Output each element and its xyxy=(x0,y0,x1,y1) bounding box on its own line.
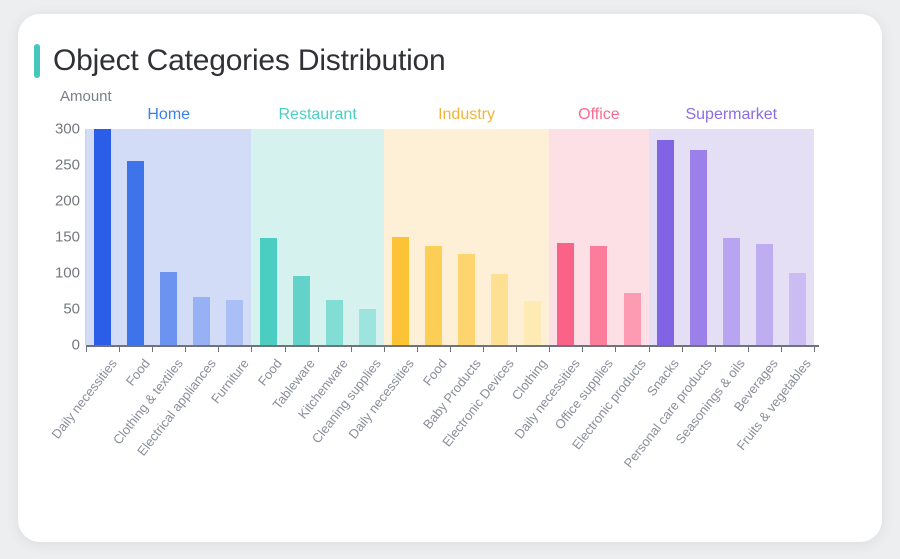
bar[interactable] xyxy=(326,300,343,345)
x-tick-mark xyxy=(483,345,484,352)
x-tick-mark xyxy=(615,345,616,352)
bar[interactable] xyxy=(557,243,574,345)
bar[interactable] xyxy=(127,161,144,345)
y-tick-label: 100 xyxy=(55,265,80,282)
x-tick-mark xyxy=(748,345,749,352)
bar[interactable] xyxy=(789,273,806,345)
x-tick-mark xyxy=(119,345,120,352)
bar[interactable] xyxy=(160,272,177,345)
bar[interactable] xyxy=(392,237,409,345)
bar[interactable] xyxy=(624,293,641,345)
bar[interactable] xyxy=(193,297,210,345)
group-label-supermarket: Supermarket xyxy=(685,106,777,124)
group-label-home: Home xyxy=(147,106,190,124)
x-tick-mark xyxy=(86,345,87,352)
x-tick-mark xyxy=(549,345,550,352)
bar[interactable] xyxy=(425,246,442,345)
plot-area: 050100150200250300 xyxy=(86,129,814,345)
bar[interactable] xyxy=(293,276,310,345)
x-tick-mark xyxy=(649,345,650,352)
x-tick-mark xyxy=(351,345,352,352)
x-tick-mark xyxy=(285,345,286,352)
y-tick-label: 200 xyxy=(55,193,80,210)
y-tick-label: 150 xyxy=(55,229,80,246)
x-tick-mark xyxy=(152,345,153,352)
bar[interactable] xyxy=(491,274,508,345)
bar[interactable] xyxy=(723,238,740,345)
x-tick-mark xyxy=(682,345,683,352)
group-label-industry: Industry xyxy=(438,106,495,124)
y-axis-line xyxy=(85,129,86,345)
x-tick-mark xyxy=(384,345,385,352)
x-tick-mark xyxy=(450,345,451,352)
x-tick-mark xyxy=(715,345,716,352)
x-tick-mark xyxy=(251,345,252,352)
bar[interactable] xyxy=(590,246,607,345)
x-tick-mark xyxy=(417,345,418,352)
bar[interactable] xyxy=(94,129,111,345)
bar[interactable] xyxy=(690,150,707,345)
x-tick-mark xyxy=(814,345,815,352)
x-tick-mark xyxy=(516,345,517,352)
y-tick-label: 250 xyxy=(55,157,80,174)
bar-chart: Amount HomeRestaurantIndustryOfficeSuper… xyxy=(18,14,882,542)
x-tick-mark xyxy=(218,345,219,352)
chart-card: Object Categories Distribution Amount Ho… xyxy=(18,14,882,542)
bar[interactable] xyxy=(657,140,674,345)
bar[interactable] xyxy=(458,254,475,345)
group-label-restaurant: Restaurant xyxy=(278,106,356,124)
y-tick-label: 300 xyxy=(55,121,80,138)
y-tick-label: 0 xyxy=(72,337,80,354)
bar[interactable] xyxy=(359,309,376,345)
x-tick-mark xyxy=(582,345,583,352)
bar[interactable] xyxy=(756,244,773,345)
x-axis-line xyxy=(86,345,819,347)
x-tick-mark xyxy=(318,345,319,352)
bar[interactable] xyxy=(260,238,277,345)
x-tick-mark xyxy=(781,345,782,352)
x-tick-mark xyxy=(185,345,186,352)
bar[interactable] xyxy=(226,300,243,345)
group-label-office: Office xyxy=(578,106,620,124)
y-tick-label: 50 xyxy=(63,301,80,318)
bar[interactable] xyxy=(524,301,541,345)
